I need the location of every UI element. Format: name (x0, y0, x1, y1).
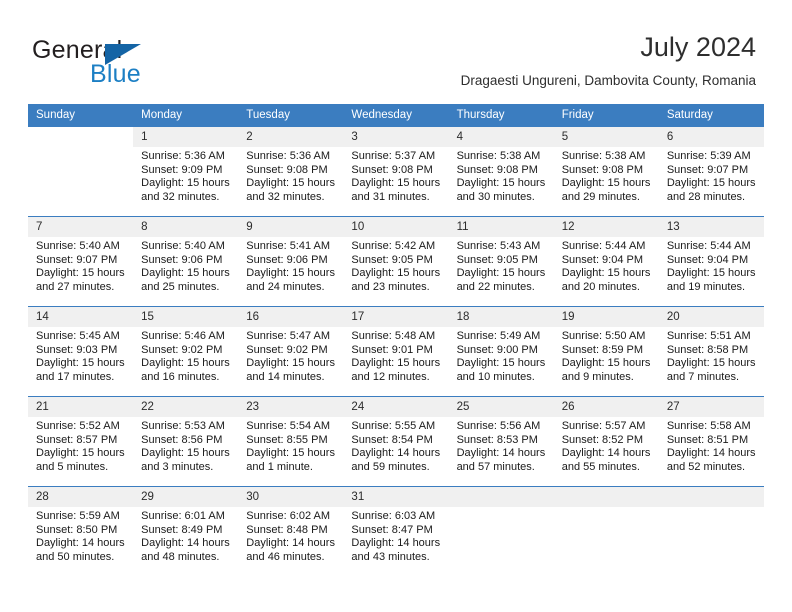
daylight-text-line2: and 50 minutes. (36, 551, 127, 565)
daylight-text-line1: Daylight: 15 hours (141, 267, 232, 281)
day-cell[interactable]: 1 Sunrise: 5:36 AM Sunset: 9:09 PM Dayli… (133, 127, 238, 217)
day-cell[interactable]: 7 Sunrise: 5:40 AM Sunset: 9:07 PM Dayli… (28, 217, 133, 307)
sunset-text: Sunset: 9:05 PM (457, 254, 548, 268)
daylight-text-line1: Daylight: 15 hours (351, 267, 442, 281)
day-cell[interactable]: 31 Sunrise: 6:03 AM Sunset: 8:47 PM Dayl… (343, 487, 448, 577)
daylight-text-line2: and 20 minutes. (562, 281, 653, 295)
sunrise-sunset-calendar: Sunday Monday Tuesday Wednesday Thursday… (28, 104, 764, 577)
sunrise-text: Sunrise: 5:58 AM (667, 420, 758, 434)
daylight-text-line2: and 31 minutes. (351, 191, 442, 205)
day-cell[interactable]: 24 Sunrise: 5:55 AM Sunset: 8:54 PM Dayl… (343, 397, 448, 487)
column-header-wednesday: Wednesday (343, 104, 448, 127)
column-header-sunday: Sunday (28, 104, 133, 127)
day-details: Sunrise: 5:47 AM Sunset: 9:02 PM Dayligh… (238, 327, 343, 384)
column-header-tuesday: Tuesday (238, 104, 343, 127)
day-cell[interactable]: 26 Sunrise: 5:57 AM Sunset: 8:52 PM Dayl… (554, 397, 659, 487)
day-number (659, 487, 764, 507)
sunset-text: Sunset: 9:06 PM (141, 254, 232, 268)
column-header-monday: Monday (133, 104, 238, 127)
day-cell[interactable]: 20 Sunrise: 5:51 AM Sunset: 8:58 PM Dayl… (659, 307, 764, 397)
day-number: 29 (133, 487, 238, 507)
day-number: 20 (659, 307, 764, 327)
daylight-text-line1: Daylight: 15 hours (246, 447, 337, 461)
day-cell[interactable]: 13 Sunrise: 5:44 AM Sunset: 9:04 PM Dayl… (659, 217, 764, 307)
sunset-text: Sunset: 9:01 PM (351, 344, 442, 358)
day-cell[interactable]: 9 Sunrise: 5:41 AM Sunset: 9:06 PM Dayli… (238, 217, 343, 307)
sunset-text: Sunset: 8:51 PM (667, 434, 758, 448)
day-number: 8 (133, 217, 238, 237)
day-number: 2 (238, 127, 343, 147)
day-cell[interactable]: 14 Sunrise: 5:45 AM Sunset: 9:03 PM Dayl… (28, 307, 133, 397)
daylight-text-line1: Daylight: 15 hours (141, 357, 232, 371)
daylight-text-line1: Daylight: 15 hours (246, 357, 337, 371)
sunrise-text: Sunrise: 5:42 AM (351, 240, 442, 254)
sunset-text: Sunset: 8:57 PM (36, 434, 127, 448)
day-number: 17 (343, 307, 448, 327)
day-number: 3 (343, 127, 448, 147)
day-cell (659, 487, 764, 577)
day-details: Sunrise: 5:54 AM Sunset: 8:55 PM Dayligh… (238, 417, 343, 474)
day-cell[interactable]: 25 Sunrise: 5:56 AM Sunset: 8:53 PM Dayl… (449, 397, 554, 487)
sunset-text: Sunset: 8:54 PM (351, 434, 442, 448)
day-number: 16 (238, 307, 343, 327)
day-number: 12 (554, 217, 659, 237)
daylight-text-line1: Daylight: 15 hours (36, 267, 127, 281)
sunrise-text: Sunrise: 5:38 AM (457, 150, 548, 164)
sunset-text: Sunset: 9:04 PM (562, 254, 653, 268)
sunset-text: Sunset: 8:48 PM (246, 524, 337, 538)
sunrise-text: Sunrise: 5:47 AM (246, 330, 337, 344)
sunrise-text: Sunrise: 5:48 AM (351, 330, 442, 344)
title-block: July 2024 Dragaesti Ungureni, Dambovita … (461, 30, 756, 90)
day-number: 22 (133, 397, 238, 417)
sunset-text: Sunset: 9:07 PM (36, 254, 127, 268)
day-details: Sunrise: 5:40 AM Sunset: 9:06 PM Dayligh… (133, 237, 238, 294)
sunset-text: Sunset: 9:02 PM (246, 344, 337, 358)
day-details: Sunrise: 5:40 AM Sunset: 9:07 PM Dayligh… (28, 237, 133, 294)
day-number: 30 (238, 487, 343, 507)
day-number: 15 (133, 307, 238, 327)
day-details: Sunrise: 5:50 AM Sunset: 8:59 PM Dayligh… (554, 327, 659, 384)
day-details: Sunrise: 5:39 AM Sunset: 9:07 PM Dayligh… (659, 147, 764, 204)
daylight-text-line1: Daylight: 15 hours (36, 447, 127, 461)
daylight-text-line1: Daylight: 15 hours (36, 357, 127, 371)
day-cell[interactable]: 3 Sunrise: 5:37 AM Sunset: 9:08 PM Dayli… (343, 127, 448, 217)
sunset-text: Sunset: 9:08 PM (457, 164, 548, 178)
day-number: 31 (343, 487, 448, 507)
daylight-text-line1: Daylight: 15 hours (667, 357, 758, 371)
day-details: Sunrise: 5:55 AM Sunset: 8:54 PM Dayligh… (343, 417, 448, 474)
column-header-friday: Friday (554, 104, 659, 127)
sunrise-text: Sunrise: 5:38 AM (562, 150, 653, 164)
day-details: Sunrise: 5:36 AM Sunset: 9:09 PM Dayligh… (133, 147, 238, 204)
daylight-text-line1: Daylight: 15 hours (246, 267, 337, 281)
sunset-text: Sunset: 8:50 PM (36, 524, 127, 538)
daylight-text-line2: and 32 minutes. (246, 191, 337, 205)
daylight-text-line2: and 1 minute. (246, 461, 337, 475)
calendar-header-row: Sunday Monday Tuesday Wednesday Thursday… (28, 104, 764, 127)
daylight-text-line2: and 59 minutes. (351, 461, 442, 475)
sunrise-text: Sunrise: 5:44 AM (562, 240, 653, 254)
daylight-text-line1: Daylight: 14 hours (36, 537, 127, 551)
day-number: 18 (449, 307, 554, 327)
daylight-text-line2: and 12 minutes. (351, 371, 442, 385)
sunrise-text: Sunrise: 5:41 AM (246, 240, 337, 254)
calendar-week-row: 21 Sunrise: 5:52 AM Sunset: 8:57 PM Dayl… (28, 397, 764, 487)
daylight-text-line1: Daylight: 15 hours (351, 357, 442, 371)
daylight-text-line1: Daylight: 15 hours (667, 267, 758, 281)
day-details: Sunrise: 5:53 AM Sunset: 8:56 PM Dayligh… (133, 417, 238, 474)
daylight-text-line2: and 48 minutes. (141, 551, 232, 565)
day-details: Sunrise: 6:01 AM Sunset: 8:49 PM Dayligh… (133, 507, 238, 564)
daylight-text-line1: Daylight: 14 hours (246, 537, 337, 551)
daylight-text-line2: and 32 minutes. (141, 191, 232, 205)
day-details: Sunrise: 5:56 AM Sunset: 8:53 PM Dayligh… (449, 417, 554, 474)
day-number: 13 (659, 217, 764, 237)
day-cell[interactable]: 22 Sunrise: 5:53 AM Sunset: 8:56 PM Dayl… (133, 397, 238, 487)
day-cell[interactable]: 8 Sunrise: 5:40 AM Sunset: 9:06 PM Dayli… (133, 217, 238, 307)
brand-name-blue: Blue (90, 60, 141, 89)
day-cell[interactable]: 2 Sunrise: 5:36 AM Sunset: 9:08 PM Dayli… (238, 127, 343, 217)
sunrise-text: Sunrise: 5:40 AM (36, 240, 127, 254)
day-details: Sunrise: 5:36 AM Sunset: 9:08 PM Dayligh… (238, 147, 343, 204)
day-number: 10 (343, 217, 448, 237)
day-details: Sunrise: 5:45 AM Sunset: 9:03 PM Dayligh… (28, 327, 133, 384)
daylight-text-line1: Daylight: 14 hours (141, 537, 232, 551)
sunset-text: Sunset: 9:00 PM (457, 344, 548, 358)
sunrise-text: Sunrise: 5:43 AM (457, 240, 548, 254)
day-details: Sunrise: 5:58 AM Sunset: 8:51 PM Dayligh… (659, 417, 764, 474)
sunset-text: Sunset: 8:55 PM (246, 434, 337, 448)
daylight-text-line2: and 7 minutes. (667, 371, 758, 385)
day-cell[interactable]: 30 Sunrise: 6:02 AM Sunset: 8:48 PM Dayl… (238, 487, 343, 577)
day-cell (449, 487, 554, 577)
sunset-text: Sunset: 8:49 PM (141, 524, 232, 538)
daylight-text-line2: and 46 minutes. (246, 551, 337, 565)
sunset-text: Sunset: 9:02 PM (141, 344, 232, 358)
daylight-text-line2: and 25 minutes. (141, 281, 232, 295)
daylight-text-line2: and 43 minutes. (351, 551, 442, 565)
day-number (449, 487, 554, 507)
day-cell[interactable]: 17 Sunrise: 5:48 AM Sunset: 9:01 PM Dayl… (343, 307, 448, 397)
daylight-text-line2: and 24 minutes. (246, 281, 337, 295)
day-number: 26 (554, 397, 659, 417)
day-details: Sunrise: 5:57 AM Sunset: 8:52 PM Dayligh… (554, 417, 659, 474)
page-subtitle: Dragaesti Ungureni, Dambovita County, Ro… (461, 72, 756, 90)
day-details: Sunrise: 5:42 AM Sunset: 9:05 PM Dayligh… (343, 237, 448, 294)
sunset-text: Sunset: 9:08 PM (562, 164, 653, 178)
day-details: Sunrise: 5:46 AM Sunset: 9:02 PM Dayligh… (133, 327, 238, 384)
sunset-text: Sunset: 9:06 PM (246, 254, 337, 268)
day-number: 19 (554, 307, 659, 327)
daylight-text-line1: Daylight: 15 hours (562, 177, 653, 191)
calendar-week-row: 28 Sunrise: 5:59 AM Sunset: 8:50 PM Dayl… (28, 487, 764, 577)
day-details: Sunrise: 5:51 AM Sunset: 8:58 PM Dayligh… (659, 327, 764, 384)
daylight-text-line1: Daylight: 15 hours (351, 177, 442, 191)
daylight-text-line2: and 29 minutes. (562, 191, 653, 205)
sunrise-text: Sunrise: 5:55 AM (351, 420, 442, 434)
daylight-text-line1: Daylight: 15 hours (141, 177, 232, 191)
page-header: General Blue July 2024 Dragaesti Unguren… (0, 0, 792, 104)
daylight-text-line2: and 22 minutes. (457, 281, 548, 295)
column-header-thursday: Thursday (449, 104, 554, 127)
sunrise-text: Sunrise: 5:57 AM (562, 420, 653, 434)
sunset-text: Sunset: 9:05 PM (351, 254, 442, 268)
daylight-text-line2: and 14 minutes. (246, 371, 337, 385)
sunrise-text: Sunrise: 5:54 AM (246, 420, 337, 434)
daylight-text-line1: Daylight: 14 hours (562, 447, 653, 461)
sunrise-text: Sunrise: 5:46 AM (141, 330, 232, 344)
sunset-text: Sunset: 8:52 PM (562, 434, 653, 448)
day-cell[interactable]: 10 Sunrise: 5:42 AM Sunset: 9:05 PM Dayl… (343, 217, 448, 307)
day-number (28, 127, 133, 147)
daylight-text-line2: and 5 minutes. (36, 461, 127, 475)
sunrise-text: Sunrise: 5:50 AM (562, 330, 653, 344)
daylight-text-line2: and 3 minutes. (141, 461, 232, 475)
sunrise-text: Sunrise: 5:53 AM (141, 420, 232, 434)
sunrise-text: Sunrise: 5:49 AM (457, 330, 548, 344)
daylight-text-line2: and 9 minutes. (562, 371, 653, 385)
daylight-text-line2: and 23 minutes. (351, 281, 442, 295)
day-cell[interactable]: 16 Sunrise: 5:47 AM Sunset: 9:02 PM Dayl… (238, 307, 343, 397)
day-number: 14 (28, 307, 133, 327)
day-cell[interactable]: 19 Sunrise: 5:50 AM Sunset: 8:59 PM Dayl… (554, 307, 659, 397)
day-number: 11 (449, 217, 554, 237)
day-cell[interactable]: 27 Sunrise: 5:58 AM Sunset: 8:51 PM Dayl… (659, 397, 764, 487)
sunset-text: Sunset: 9:03 PM (36, 344, 127, 358)
daylight-text-line2: and 19 minutes. (667, 281, 758, 295)
sunrise-text: Sunrise: 6:02 AM (246, 510, 337, 524)
daylight-text-line2: and 57 minutes. (457, 461, 548, 475)
daylight-text-line2: and 10 minutes. (457, 371, 548, 385)
day-number: 6 (659, 127, 764, 147)
daylight-text-line2: and 30 minutes. (457, 191, 548, 205)
day-cell (28, 127, 133, 217)
sunrise-text: Sunrise: 5:39 AM (667, 150, 758, 164)
daylight-text-line1: Daylight: 15 hours (457, 177, 548, 191)
calendar-page: General Blue July 2024 Dragaesti Unguren… (0, 0, 792, 612)
daylight-text-line1: Daylight: 14 hours (351, 447, 442, 461)
day-cell[interactable]: 5 Sunrise: 5:38 AM Sunset: 9:08 PM Dayli… (554, 127, 659, 217)
day-cell[interactable]: 15 Sunrise: 5:46 AM Sunset: 9:02 PM Dayl… (133, 307, 238, 397)
sunset-text: Sunset: 9:04 PM (667, 254, 758, 268)
day-cell[interactable]: 18 Sunrise: 5:49 AM Sunset: 9:00 PM Dayl… (449, 307, 554, 397)
calendar-week-row: 7 Sunrise: 5:40 AM Sunset: 9:07 PM Dayli… (28, 217, 764, 307)
sunrise-text: Sunrise: 6:03 AM (351, 510, 442, 524)
sunrise-text: Sunrise: 5:44 AM (667, 240, 758, 254)
sunrise-text: Sunrise: 5:59 AM (36, 510, 127, 524)
sunrise-text: Sunrise: 5:56 AM (457, 420, 548, 434)
sunrise-text: Sunrise: 5:36 AM (246, 150, 337, 164)
day-number: 27 (659, 397, 764, 417)
daylight-text-line1: Daylight: 15 hours (457, 267, 548, 281)
calendar-week-row: 1 Sunrise: 5:36 AM Sunset: 9:09 PM Dayli… (28, 127, 764, 217)
daylight-text-line1: Daylight: 14 hours (351, 537, 442, 551)
daylight-text-line2: and 27 minutes. (36, 281, 127, 295)
page-title: July 2024 (461, 30, 756, 64)
day-details: Sunrise: 5:48 AM Sunset: 9:01 PM Dayligh… (343, 327, 448, 384)
sunrise-text: Sunrise: 6:01 AM (141, 510, 232, 524)
daylight-text-line2: and 17 minutes. (36, 371, 127, 385)
day-number: 1 (133, 127, 238, 147)
daylight-text-line2: and 55 minutes. (562, 461, 653, 475)
day-number: 25 (449, 397, 554, 417)
day-details: Sunrise: 5:38 AM Sunset: 9:08 PM Dayligh… (554, 147, 659, 204)
daylight-text-line1: Daylight: 15 hours (141, 447, 232, 461)
day-details: Sunrise: 6:03 AM Sunset: 8:47 PM Dayligh… (343, 507, 448, 564)
day-number: 4 (449, 127, 554, 147)
daylight-text-line1: Daylight: 15 hours (562, 267, 653, 281)
calendar-body: 1 Sunrise: 5:36 AM Sunset: 9:09 PM Dayli… (28, 127, 764, 577)
day-cell[interactable]: 4 Sunrise: 5:38 AM Sunset: 9:08 PM Dayli… (449, 127, 554, 217)
sunset-text: Sunset: 9:07 PM (667, 164, 758, 178)
day-cell[interactable]: 6 Sunrise: 5:39 AM Sunset: 9:07 PM Dayli… (659, 127, 764, 217)
daylight-text-line2: and 28 minutes. (667, 191, 758, 205)
daylight-text-line2: and 16 minutes. (141, 371, 232, 385)
sunset-text: Sunset: 9:08 PM (351, 164, 442, 178)
day-cell[interactable]: 28 Sunrise: 5:59 AM Sunset: 8:50 PM Dayl… (28, 487, 133, 577)
daylight-text-line1: Daylight: 14 hours (457, 447, 548, 461)
day-cell (554, 487, 659, 577)
sunset-text: Sunset: 8:58 PM (667, 344, 758, 358)
calendar-week-row: 14 Sunrise: 5:45 AM Sunset: 9:03 PM Dayl… (28, 307, 764, 397)
daylight-text-line1: Daylight: 15 hours (457, 357, 548, 371)
day-number: 5 (554, 127, 659, 147)
day-details: Sunrise: 5:44 AM Sunset: 9:04 PM Dayligh… (554, 237, 659, 294)
sunrise-text: Sunrise: 5:45 AM (36, 330, 127, 344)
brand-logo[interactable]: General Blue (32, 36, 252, 92)
sunset-text: Sunset: 8:47 PM (351, 524, 442, 538)
day-details: Sunrise: 5:37 AM Sunset: 9:08 PM Dayligh… (343, 147, 448, 204)
day-details: Sunrise: 5:44 AM Sunset: 9:04 PM Dayligh… (659, 237, 764, 294)
sunset-text: Sunset: 9:08 PM (246, 164, 337, 178)
day-details: Sunrise: 5:52 AM Sunset: 8:57 PM Dayligh… (28, 417, 133, 474)
daylight-text-line1: Daylight: 15 hours (246, 177, 337, 191)
day-cell[interactable]: 11 Sunrise: 5:43 AM Sunset: 9:05 PM Dayl… (449, 217, 554, 307)
day-details: Sunrise: 5:41 AM Sunset: 9:06 PM Dayligh… (238, 237, 343, 294)
day-number: 23 (238, 397, 343, 417)
day-number: 9 (238, 217, 343, 237)
sunset-text: Sunset: 8:56 PM (141, 434, 232, 448)
day-number: 7 (28, 217, 133, 237)
daylight-text-line2: and 52 minutes. (667, 461, 758, 475)
sunset-text: Sunset: 9:09 PM (141, 164, 232, 178)
day-details: Sunrise: 5:49 AM Sunset: 9:00 PM Dayligh… (449, 327, 554, 384)
day-number (554, 487, 659, 507)
daylight-text-line1: Daylight: 15 hours (667, 177, 758, 191)
day-number: 28 (28, 487, 133, 507)
sunrise-text: Sunrise: 5:52 AM (36, 420, 127, 434)
sunset-text: Sunset: 8:53 PM (457, 434, 548, 448)
sunrise-text: Sunrise: 5:51 AM (667, 330, 758, 344)
daylight-text-line1: Daylight: 15 hours (562, 357, 653, 371)
day-cell[interactable]: 23 Sunrise: 5:54 AM Sunset: 8:55 PM Dayl… (238, 397, 343, 487)
sunrise-text: Sunrise: 5:36 AM (141, 150, 232, 164)
day-details: Sunrise: 6:02 AM Sunset: 8:48 PM Dayligh… (238, 507, 343, 564)
day-details: Sunrise: 5:59 AM Sunset: 8:50 PM Dayligh… (28, 507, 133, 564)
sunset-text: Sunset: 8:59 PM (562, 344, 653, 358)
day-number: 24 (343, 397, 448, 417)
day-cell[interactable]: 12 Sunrise: 5:44 AM Sunset: 9:04 PM Dayl… (554, 217, 659, 307)
day-details: Sunrise: 5:43 AM Sunset: 9:05 PM Dayligh… (449, 237, 554, 294)
day-cell[interactable]: 29 Sunrise: 6:01 AM Sunset: 8:49 PM Dayl… (133, 487, 238, 577)
day-number: 21 (28, 397, 133, 417)
sunrise-text: Sunrise: 5:37 AM (351, 150, 442, 164)
sunrise-text: Sunrise: 5:40 AM (141, 240, 232, 254)
day-details: Sunrise: 5:38 AM Sunset: 9:08 PM Dayligh… (449, 147, 554, 204)
day-cell[interactable]: 21 Sunrise: 5:52 AM Sunset: 8:57 PM Dayl… (28, 397, 133, 487)
column-header-saturday: Saturday (659, 104, 764, 127)
daylight-text-line1: Daylight: 14 hours (667, 447, 758, 461)
